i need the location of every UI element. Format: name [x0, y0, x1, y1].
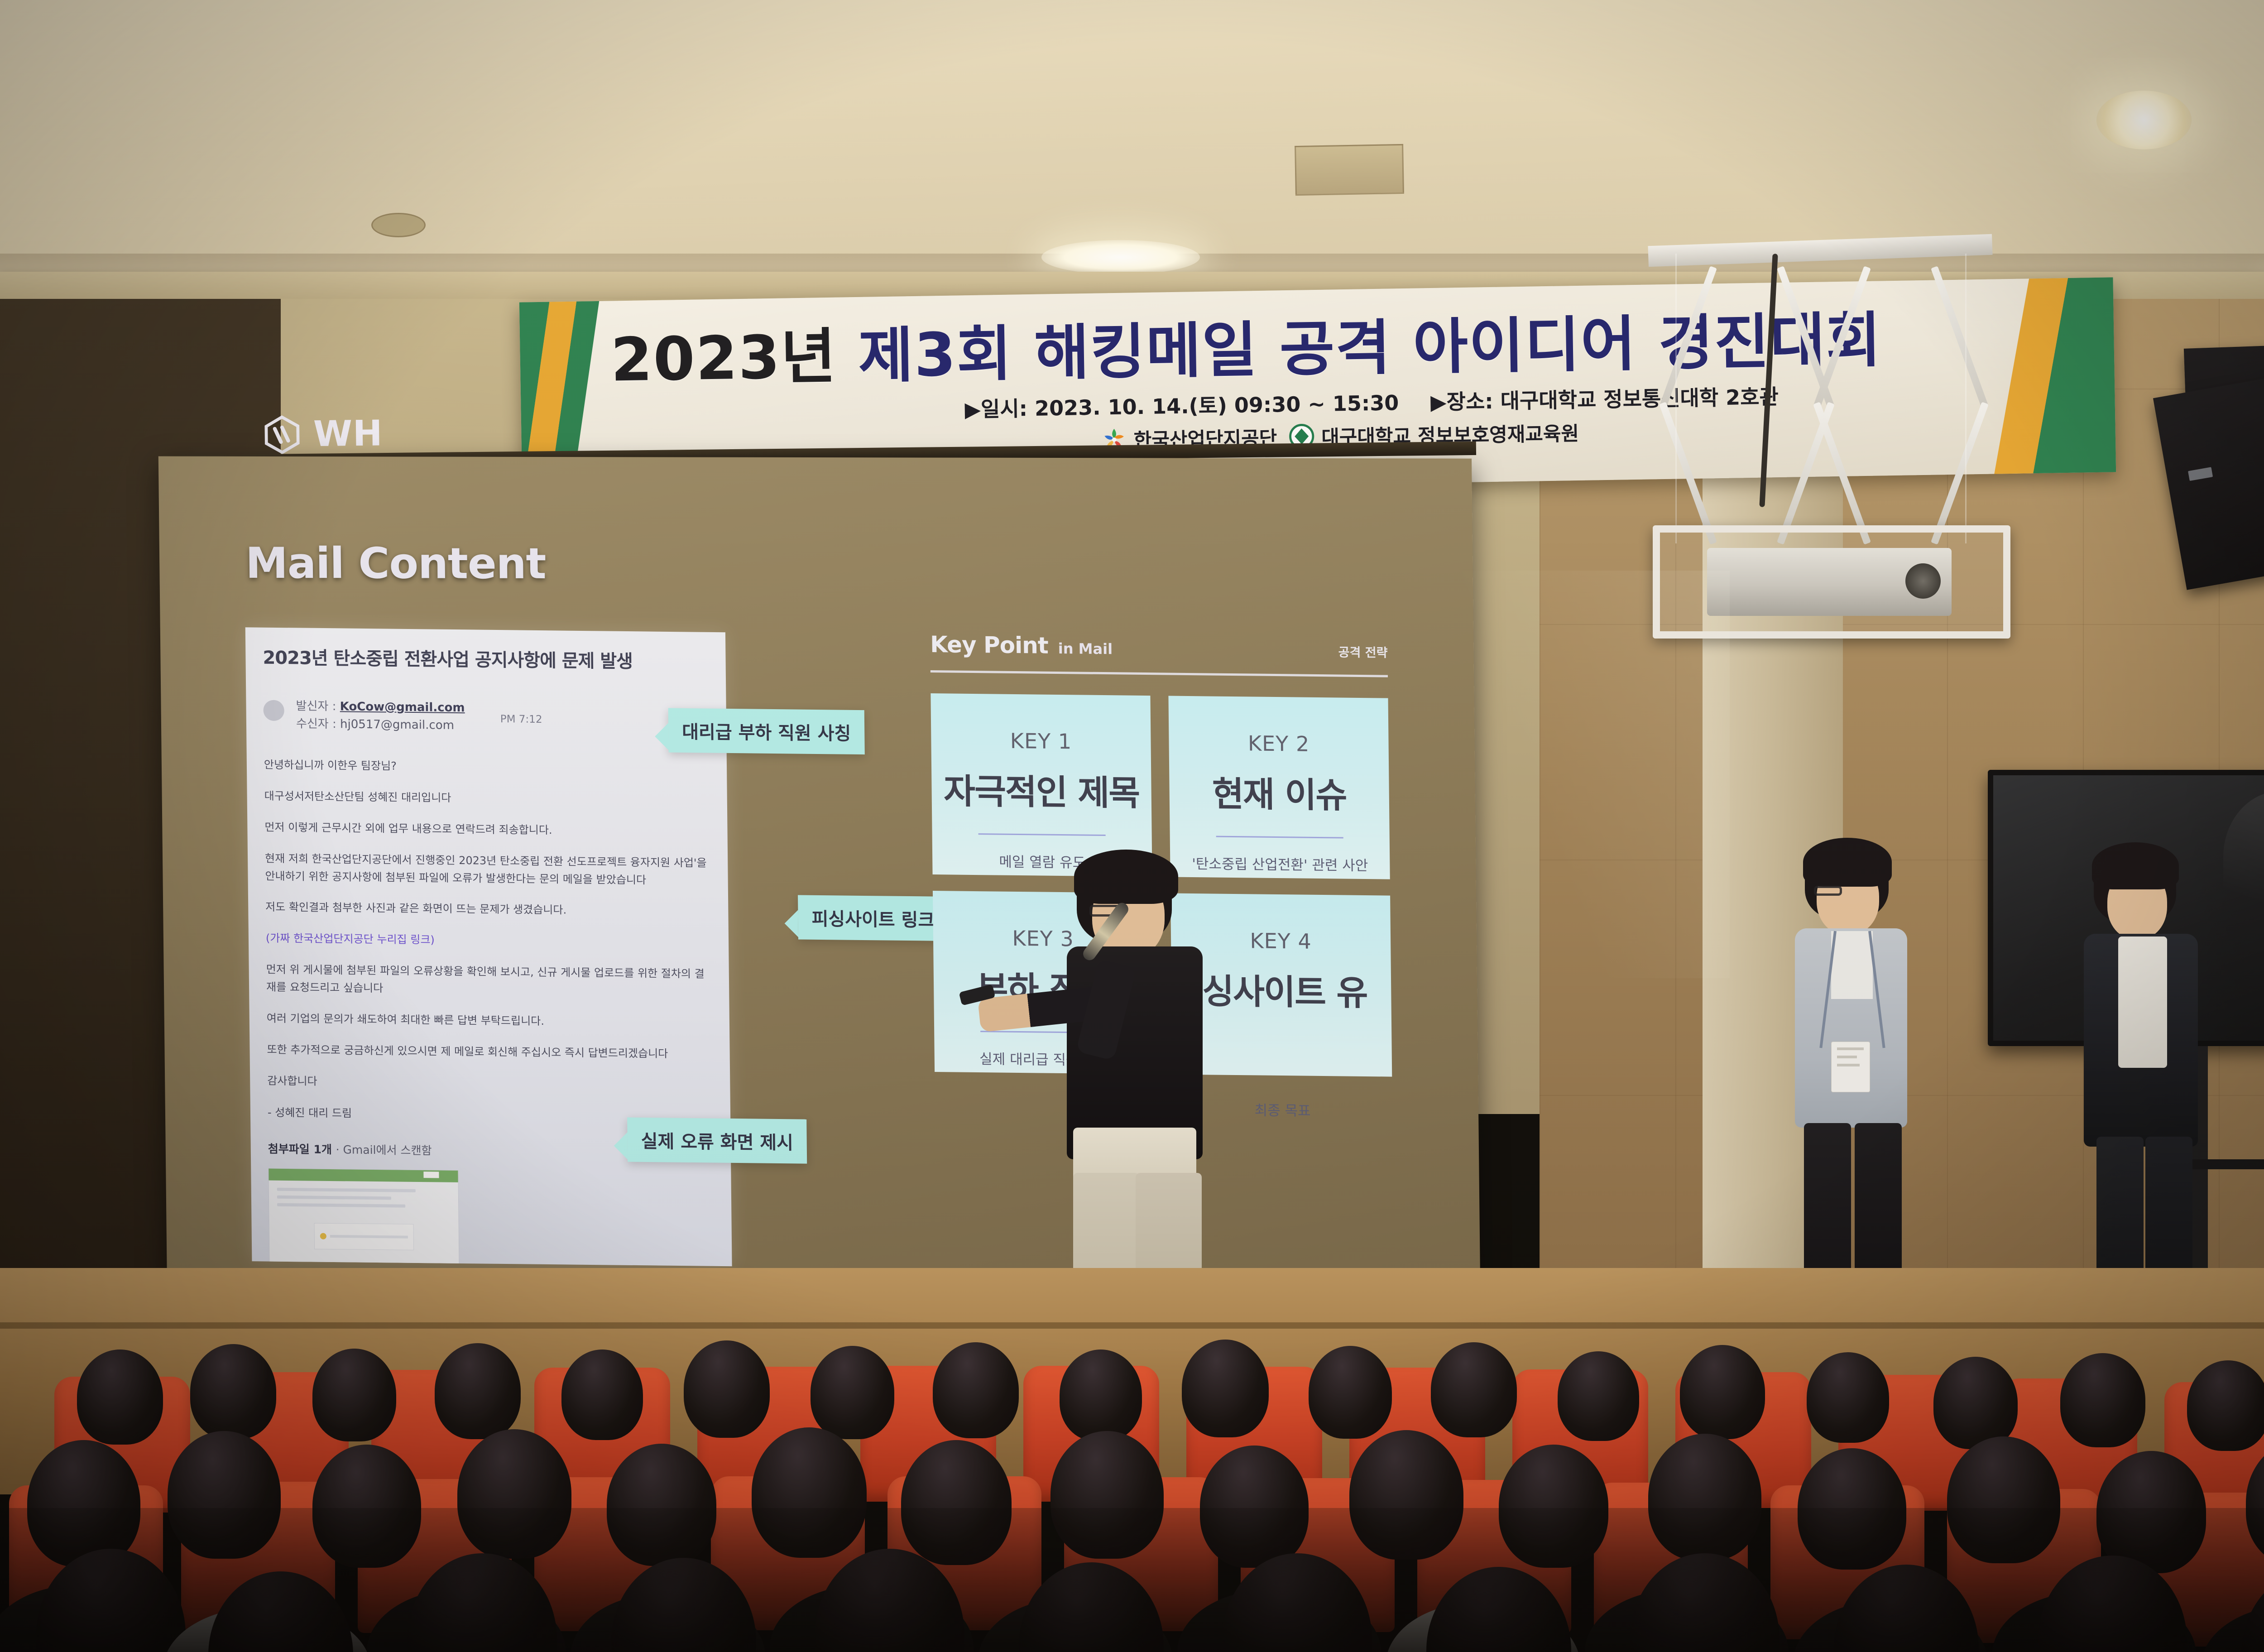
audience-head [933, 1342, 1019, 1438]
team-member-right [2074, 847, 2210, 1313]
key2-number: KEY 2 [1248, 731, 1310, 756]
member1-glasses-icon [1814, 886, 1842, 896]
key4-divider [1218, 1083, 1346, 1085]
callout-impersonation: 대리급 부하 직원 사칭 [668, 708, 865, 755]
mail-header: 발신자 : KoCow@gmail.com 수신자 : hj0517@gmail… [263, 697, 709, 737]
avatar [263, 700, 284, 721]
ceiling-downlight [2096, 91, 2192, 149]
member2-hair-top [2092, 842, 2179, 889]
audience-head [312, 1349, 396, 1441]
mail-body-line-3: 현재 저희 한국산업단지공단에서 진행중인 2023년 탄소중립 전환 선도프로… [265, 850, 711, 889]
audience-head [1060, 1349, 1142, 1441]
mail-from-label: 발신자 : [296, 699, 336, 713]
keypoint-subtitle: in Mail [1058, 640, 1113, 658]
ceiling-oval-light [1041, 240, 1200, 274]
ceiling-smoke-detector [371, 213, 426, 237]
foreground-shadow [0, 1508, 2264, 1652]
mail-body-line-1: 대구성서저탄소산단팀 성혜진 대리입니다 [264, 787, 710, 809]
key4-number: KEY 4 [1250, 928, 1312, 953]
mail-phishing-link[interactable]: (가짜 한국산업단지공단 누리집 링크) [266, 930, 712, 952]
audience-head [1431, 1342, 1517, 1437]
member1-leg-left [1804, 1123, 1851, 1286]
attachment-count: 첨부파일 1개 [268, 1142, 332, 1156]
attachment-preview[interactable] [268, 1168, 459, 1266]
member1-name-badge [1831, 1042, 1870, 1092]
keypoint-box-1: KEY 1 자극적인 제목 메일 열람 유도 [931, 693, 1152, 877]
slide-mail-content: Mail Content 2023년 탄소중립 전환사업 공지사항에 문제 발생… [158, 456, 1481, 1333]
wh-logo-text: WH [313, 413, 383, 455]
audience-head [561, 1349, 643, 1440]
mail-body-line-2: 먼저 이렇게 근무시간 외에 업무 내용으로 연락드려 죄송합니다. [264, 818, 710, 840]
audience-head [2060, 1353, 2145, 1447]
attachment-placeholder-lines [269, 1180, 459, 1220]
member1-hair-top [1803, 838, 1892, 887]
audience-head [1558, 1351, 1639, 1441]
ceiling-vent [1295, 144, 1404, 196]
key4-note: 최종 목표 [1254, 1099, 1310, 1119]
callout-error-screenshot: 실제 오류 화면 제시 [627, 1117, 807, 1163]
audience-head [1807, 1352, 1889, 1443]
projector-scissor-lift [1666, 254, 1983, 543]
rig-drop-wire-right [1965, 254, 1967, 543]
audience-head [2187, 1360, 2264, 1451]
key1-main: 자극적인 제목 [943, 763, 1139, 815]
mail-body-line-7: 또한 추가적으로 궁금하신게 있으시면 제 메일로 회신해 주십시오 즉시 답변… [267, 1041, 713, 1063]
mail-body-line-6: 여러 기업의 문의가 쇄도하여 최대한 빠른 답변 부탁드립니다. [267, 1009, 713, 1032]
keypoint-title: Key Point [930, 631, 1048, 659]
audience-head [1680, 1345, 1765, 1439]
mail-body: 안녕하십니까 이한우 팀장님? 대구성서저탄소산단팀 성혜진 대리입니다 먼저 … [264, 756, 713, 1095]
mail-body-line-4: 저도 확인결과 첨부한 사진과 같은 화면이 뜨는 문제가 생겼습니다. [265, 898, 711, 921]
mail-to-value: hj0517@gmail.com [340, 717, 454, 732]
audience-head [1933, 1357, 2018, 1449]
mail-body-line-8: 감사합니다 [267, 1072, 713, 1094]
rig-drop-wire-left [1675, 254, 1677, 543]
presenter-hair-top [1074, 850, 1178, 904]
team-member-left [1784, 842, 1920, 1313]
mail-subject: 2023년 탄소중립 전환사업 공지사항에 문제 발생 [263, 643, 709, 674]
audience-head [435, 1343, 521, 1439]
banner-date: ▶일시: 2023. 10. 14.(토) 09:30 ~ 15:30 [964, 390, 1399, 422]
mail-from-value: KoCow@gmail.com [340, 700, 465, 715]
key1-number: KEY 1 [1010, 729, 1072, 754]
keypoint-header: Key Point in Mail 공격 전략 [930, 631, 1388, 663]
attachment-error-chip [314, 1223, 414, 1250]
slide-title: Mail Content [245, 539, 546, 589]
member1-inner-tee [1831, 931, 1873, 999]
keypoint-tag: 공격 전략 [1338, 642, 1387, 660]
warning-dot-icon [320, 1233, 326, 1239]
auditorium-presentation-photo: 2023년 제3회 해킹메일 공격 아이디어 경진대회 ▶일시: 2023. 1… [0, 0, 2264, 1652]
ceiling-projector [1707, 548, 1952, 616]
monitor-glare [2223, 791, 2264, 956]
audience-head [190, 1344, 276, 1439]
member1-leg-right [1855, 1123, 1902, 1286]
keypoint-box-2: KEY 2 현재 이슈 '탄소중립 산업전환' 관련 사안 [1168, 696, 1390, 879]
banner-title-year: 2023년 [610, 322, 859, 395]
mail-addresses: 발신자 : KoCow@gmail.com 수신자 : hj0517@gmail… [296, 697, 465, 735]
mail-to-label: 수신자 : [296, 717, 336, 731]
mail-timestamp: PM 7:12 [500, 713, 542, 725]
audience-head [811, 1346, 894, 1439]
callout-phishing-link: 피싱사이트 링크 [798, 895, 949, 941]
key1-divider [978, 833, 1105, 836]
projection-screen: Mail Content 2023년 탄소중립 전환사업 공지사항에 문제 발생… [158, 456, 1481, 1333]
wh-hexagon-icon [263, 415, 302, 454]
member2-inner-tee [2118, 936, 2167, 1068]
key2-note: '탄소중립 산업전환' 관련 사안 [1192, 852, 1368, 874]
mail-body-line-0: 안녕하십니까 이한우 팀장님? [264, 756, 710, 778]
attachment-green-bar [269, 1168, 458, 1182]
audience-head [1182, 1340, 1269, 1437]
key2-divider [1216, 836, 1343, 839]
audience-head [77, 1349, 163, 1445]
attachment-scan-note: · Gmail에서 스캔함 [336, 1143, 432, 1157]
key2-main: 현재 이슈 [1212, 766, 1347, 817]
audience-head [684, 1340, 770, 1438]
projector-lens-icon [1905, 563, 1941, 599]
keypoint-divider [931, 670, 1388, 677]
mail-body-line-5: 먼저 위 게시물에 첨부된 파일의 오류상황을 확인해 보시고, 신규 게시물 … [266, 961, 712, 1001]
audience-head [1309, 1346, 1392, 1439]
